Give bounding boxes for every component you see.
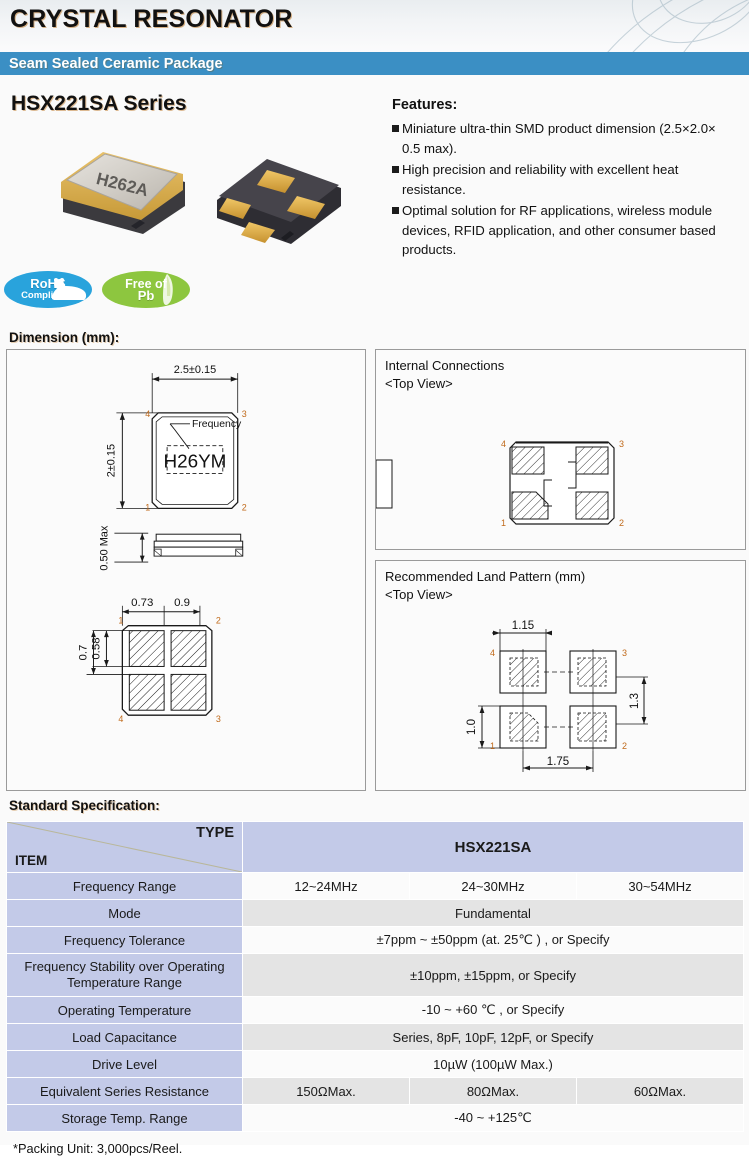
spec-row: Equivalent Series Resistance150ΩMax.80ΩM… bbox=[7, 1078, 744, 1105]
spec-type-value: HSX221SA bbox=[243, 822, 744, 873]
dimension-drawings: 2.5±0.15 2±0.15 H26YM bbox=[7, 350, 365, 790]
spec-value-cell: Series, 8pF, 10pF, 12pF, or Specify bbox=[243, 1024, 744, 1051]
lp-title-line2: <Top View> bbox=[385, 586, 585, 604]
dim-bottom-a: 0.73 bbox=[131, 597, 153, 609]
spec-header-item-type: TYPEITEM bbox=[7, 822, 243, 873]
dim-pin-1: 1 bbox=[145, 502, 150, 512]
ic-pin-4: 4 bbox=[501, 439, 506, 449]
spec-table-body: TYPEITEMHSX221SAFrequency Range12~24MHz2… bbox=[7, 822, 744, 1132]
lp-dim-right: 1.3 bbox=[629, 693, 641, 709]
pb-free-badge: Free of Pb bbox=[102, 271, 190, 308]
spec-item-label: Frequency Stability over Operating Tempe… bbox=[7, 954, 243, 997]
dim-bottom-c: 0.58 bbox=[90, 637, 102, 659]
header-swirl-decoration bbox=[559, 0, 749, 52]
lp-dim-bottom: 1.75 bbox=[547, 756, 569, 768]
feature-text: High precision and reliability with exce… bbox=[402, 160, 736, 199]
product-photos: H262A bbox=[40, 130, 350, 260]
spec-value-cell: 24~30MHz bbox=[410, 873, 577, 900]
spec-header-type: TYPE bbox=[196, 825, 234, 841]
dim-pin-4: 4 bbox=[145, 409, 150, 419]
spec-row: Drive Level10µW (100µW Max.) bbox=[7, 1051, 744, 1078]
spec-value-cell: -10 ~ +60 ℃ , or Specify bbox=[243, 997, 744, 1024]
dimb-pin-1: 1 bbox=[118, 616, 123, 626]
rohs-badge: RoHS Compliance bbox=[4, 271, 92, 308]
lp-title-line1: Recommended Land Pattern (mm) bbox=[385, 568, 585, 586]
spec-table: TYPEITEMHSX221SAFrequency Range12~24MHz2… bbox=[6, 821, 744, 1132]
polar-bear-icon bbox=[48, 275, 88, 305]
feature-item: High precision and reliability with exce… bbox=[392, 160, 749, 199]
page-header: CRYSTAL RESONATOR bbox=[0, 0, 749, 52]
spec-section-label: Standard Specification: bbox=[9, 798, 749, 813]
dimb-pin-2: 2 bbox=[216, 616, 221, 626]
dim-frequency-callout: Frequency bbox=[192, 419, 242, 430]
spec-value-cell: 10µW (100µW Max.) bbox=[243, 1051, 744, 1078]
series-title: HSX221SA Series bbox=[11, 92, 187, 116]
lp-dim-top: 1.15 bbox=[512, 620, 534, 632]
dimb-pin-4: 4 bbox=[118, 714, 123, 724]
lp-pin-4: 4 bbox=[490, 648, 495, 658]
page-title: CRYSTAL RESONATOR bbox=[10, 5, 293, 34]
datasheet-page: CRYSTAL RESONATOR Seam Sealed Ceramic Pa… bbox=[0, 0, 749, 1145]
ic-pin-3: 3 bbox=[619, 439, 624, 449]
dim-top-height: 2±0.15 bbox=[105, 444, 117, 477]
spec-value-cell: 12~24MHz bbox=[243, 873, 410, 900]
spec-item-label: Frequency Range bbox=[7, 873, 243, 900]
features-title: Features: bbox=[392, 97, 749, 113]
spacer bbox=[0, 75, 749, 85]
spec-header-item: ITEM bbox=[15, 853, 47, 868]
subtitle-bar: Seam Sealed Ceramic Package bbox=[0, 52, 749, 75]
dim-bottom-b: 0.9 bbox=[174, 597, 190, 609]
lp-pin-2: 2 bbox=[622, 741, 627, 751]
spec-item-label: Equivalent Series Resistance bbox=[7, 1078, 243, 1105]
product-overview: HSX221SA Series bbox=[0, 85, 382, 330]
spec-value-cell: 30~54MHz bbox=[577, 873, 744, 900]
feature-text: Optimal solution for RF applications, wi… bbox=[402, 201, 736, 260]
bullet-square-icon bbox=[392, 166, 399, 173]
spec-row: Operating Temperature-10 ~ +60 ℃ , or Sp… bbox=[7, 997, 744, 1024]
spec-item-label: Frequency Tolerance bbox=[7, 927, 243, 954]
spec-row: Frequency Range12~24MHz24~30MHz30~54MHz bbox=[7, 873, 744, 900]
dim-bottom-d: 0.7 bbox=[78, 645, 90, 661]
spec-item-label: Drive Level bbox=[7, 1051, 243, 1078]
features-list: Miniature ultra-thin SMD product dimensi… bbox=[382, 119, 749, 260]
spec-value-cell: 80ΩMax. bbox=[410, 1078, 577, 1105]
spec-item-label: Operating Temperature bbox=[7, 997, 243, 1024]
spec-value-cell: -40 ~ +125℃ bbox=[243, 1105, 744, 1132]
lp-pin-1: 1 bbox=[490, 741, 495, 751]
spec-value-cell: ±7ppm ~ ±50ppm (at. 25℃ ) , or Specify bbox=[243, 927, 744, 954]
dimension-panels: 2.5±0.15 2±0.15 H26YM bbox=[0, 349, 749, 791]
dimb-pin-3: 3 bbox=[216, 714, 221, 724]
land-pattern-title: Recommended Land Pattern (mm) <Top View> bbox=[385, 568, 585, 604]
internal-connections-title: Internal Connections <Top View> bbox=[385, 357, 504, 393]
lp-dim-left: 1.0 bbox=[466, 719, 478, 735]
product-photo-bottom-view bbox=[205, 150, 350, 252]
feature-item: Optimal solution for RF applications, wi… bbox=[392, 201, 749, 260]
land-pattern-panel: Recommended Land Pattern (mm) <Top View> bbox=[375, 560, 746, 791]
compliance-badges: RoHS Compliance Free of Pb bbox=[4, 271, 190, 308]
features-section: Features: Miniature ultra-thin SMD produ… bbox=[382, 85, 749, 330]
spec-table-wrap: TYPEITEMHSX221SAFrequency Range12~24MHz2… bbox=[0, 817, 749, 1156]
ic-pin-2: 2 bbox=[619, 518, 624, 528]
dim-pin-2: 2 bbox=[242, 502, 247, 512]
spec-item-label: Storage Temp. Range bbox=[7, 1105, 243, 1132]
dim-marking-text: H26YM bbox=[163, 452, 226, 473]
spec-row: Frequency Tolerance±7ppm ~ ±50ppm (at. 2… bbox=[7, 927, 744, 954]
spec-header-row: TYPEITEMHSX221SA bbox=[7, 822, 744, 873]
spec-value-cell: 150ΩMax. bbox=[243, 1078, 410, 1105]
spec-item-label: Load Capacitance bbox=[7, 1024, 243, 1051]
bullet-square-icon bbox=[392, 125, 399, 132]
bullet-square-icon bbox=[392, 207, 399, 214]
feature-item: Miniature ultra-thin SMD product dimensi… bbox=[392, 119, 749, 158]
ic-title-line2: <Top View> bbox=[385, 375, 504, 393]
subtitle-text: Seam Sealed Ceramic Package bbox=[0, 56, 223, 72]
ic-title-line1: Internal Connections bbox=[385, 357, 504, 375]
spec-value-cell: 60ΩMax. bbox=[577, 1078, 744, 1105]
feature-text: Miniature ultra-thin SMD product dimensi… bbox=[402, 119, 736, 158]
right-panel-column: Internal Connections <Top View> bbox=[375, 349, 746, 791]
internal-connections-panel: Internal Connections <Top View> bbox=[375, 349, 746, 550]
top-section: HSX221SA Series bbox=[0, 85, 749, 330]
lp-pin-3: 3 bbox=[622, 648, 627, 658]
dim-top-width: 2.5±0.15 bbox=[174, 364, 216, 376]
dimension-section-label: Dimension (mm): bbox=[9, 330, 749, 345]
penguin-icon bbox=[150, 273, 184, 307]
spec-row: ModeFundamental bbox=[7, 900, 744, 927]
dimension-drawing-panel: 2.5±0.15 2±0.15 H26YM bbox=[6, 349, 366, 791]
spec-value-cell: Fundamental bbox=[243, 900, 744, 927]
dim-pin-3: 3 bbox=[242, 409, 247, 419]
spec-row: Storage Temp. Range-40 ~ +125℃ bbox=[7, 1105, 744, 1132]
spec-row: Frequency Stability over Operating Tempe… bbox=[7, 954, 744, 997]
product-photo-top-view: H262A bbox=[45, 138, 195, 243]
spec-value-cell: ±10ppm, ±15ppm, or Specify bbox=[243, 954, 744, 997]
ic-pin-1: 1 bbox=[501, 518, 506, 528]
spec-row: Load CapacitanceSeries, 8pF, 10pF, 12pF,… bbox=[7, 1024, 744, 1051]
spec-footnote: *Packing Unit: 3,000pcs/Reel. bbox=[13, 1141, 743, 1156]
dim-side-height: 0.50 Max bbox=[98, 525, 110, 570]
spec-item-label: Mode bbox=[7, 900, 243, 927]
